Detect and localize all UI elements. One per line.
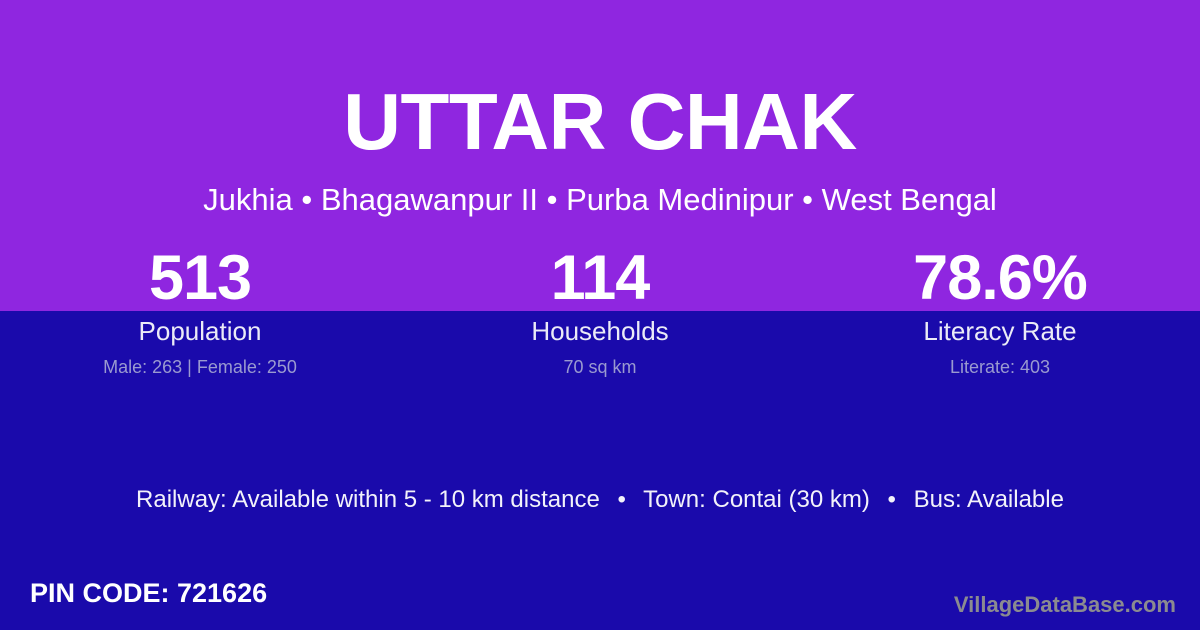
stats-row: 513 Population Male: 263 | Female: 250 1… (0, 243, 1200, 378)
stat-sub-population: Male: 263 | Female: 250 (0, 356, 400, 378)
stat-value-population: 513 (0, 243, 400, 313)
stat-block-households: 114 Households 70 sq km (400, 243, 800, 378)
breadcrumb: Jukhia • Bhagawanpur II • Purba Medinipu… (0, 181, 1200, 219)
stat-value-literacy-rate: 78.6% (800, 243, 1200, 313)
stat-label-population: Population (0, 315, 400, 347)
connectivity-bus: Bus: Available (914, 486, 1064, 513)
connectivity-separator-2: • (877, 485, 907, 515)
stat-label-literacy-rate: Literacy Rate (800, 315, 1200, 347)
page-title: UTTAR CHAK (0, 78, 1200, 166)
connectivity-railway: Railway: Available within 5 - 10 km dist… (136, 486, 600, 513)
village-info-card: UTTAR CHAK Jukhia • Bhagawanpur II • Pur… (0, 0, 1200, 630)
stat-value-households: 114 (400, 243, 800, 313)
connectivity-town: Town: Contai (30 km) (643, 486, 870, 513)
stat-block-literacy-rate: 78.6% Literacy Rate Literate: 403 (800, 243, 1200, 378)
stat-sub-literacy-rate: Literate: 403 (800, 356, 1200, 378)
stat-label-households: Households (400, 315, 800, 347)
pin-code-label: PIN CODE: 721626 (30, 576, 267, 610)
site-branding: VillageDataBase.com (954, 591, 1176, 619)
connectivity-separator-1: • (606, 485, 636, 515)
connectivity-row: Railway: Available within 5 - 10 km dist… (0, 485, 1200, 515)
stat-block-population: 513 Population Male: 263 | Female: 250 (0, 243, 400, 378)
stat-sub-households: 70 sq km (400, 356, 800, 378)
